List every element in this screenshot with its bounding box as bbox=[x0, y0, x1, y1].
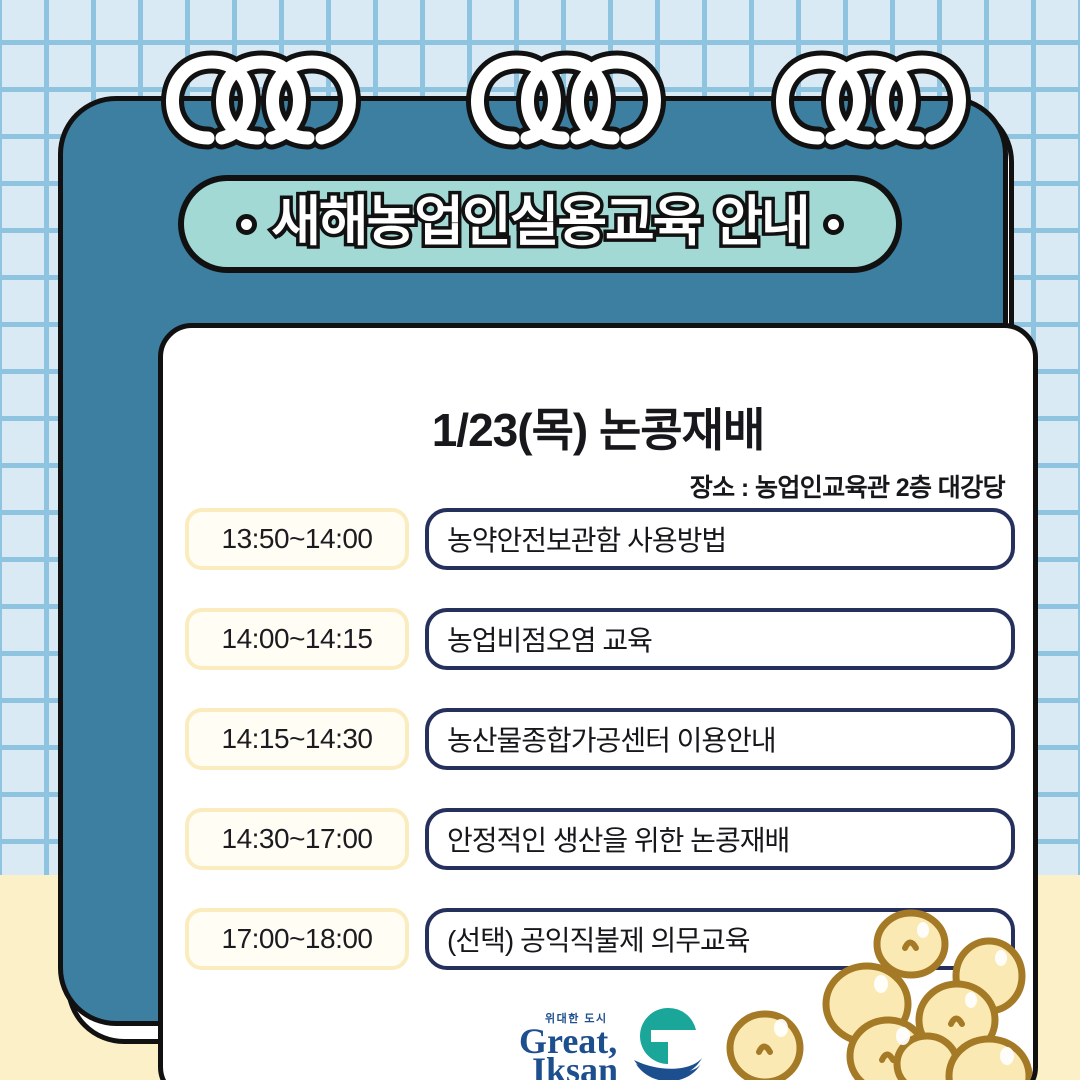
table-row: 13:50~14:00 농약안전보관함 사용방법 bbox=[185, 508, 1015, 570]
time-pill: 14:15~14:30 bbox=[185, 708, 409, 770]
topic-box: (선택) 공익직불제 의무교육 bbox=[425, 908, 1015, 970]
topic-box: 농산물종합가공센터 이용안내 bbox=[425, 708, 1015, 770]
time-pill: 13:50~14:00 bbox=[185, 508, 409, 570]
bullet-dot-right-icon bbox=[823, 214, 844, 235]
table-row: 14:30~17:00 안정적인 생산을 위한 논콩재배 bbox=[185, 808, 1015, 870]
topic-box: 농약안전보관함 사용방법 bbox=[425, 508, 1015, 570]
iksan-emblem-icon bbox=[634, 1008, 702, 1080]
time-pill: 17:00~18:00 bbox=[185, 908, 409, 970]
topic-box: 안정적인 생산을 위한 논콩재배 bbox=[425, 808, 1015, 870]
table-row: 14:00~14:15 농업비점오염 교육 bbox=[185, 608, 1015, 670]
venue-text: 장소 : 농업인교육관 2층 대강당 bbox=[690, 468, 1005, 504]
content-panel: 1/23(목) 논콩재배 장소 : 농업인교육관 2층 대강당 13:50~14… bbox=[158, 323, 1038, 1080]
table-row: 14:15~14:30 농산물종합가공센터 이용안내 bbox=[185, 708, 1015, 770]
poster-title: 새해농업인실용교육 안내 bbox=[271, 195, 808, 249]
topic-box: 농업비점오염 교육 bbox=[425, 608, 1015, 670]
poster-canvas: 1/23(목) 논콩재배 장소 : 농업인교육관 2층 대강당 13:50~14… bbox=[0, 0, 1080, 1080]
schedule-list: 13:50~14:00 농약안전보관함 사용방법 14:00~14:15 농업비… bbox=[185, 508, 1015, 1008]
table-row: 17:00~18:00 (선택) 공익직불제 의무교육 bbox=[185, 908, 1015, 970]
subtitle-heading: 1/23(목) 논콩재배 bbox=[163, 394, 1033, 460]
bullet-dot-left-icon bbox=[236, 214, 257, 235]
title-banner: 새해농업인실용교육 안내 bbox=[178, 175, 902, 273]
time-pill: 14:00~14:15 bbox=[185, 608, 409, 670]
logo-line2: Iksan bbox=[532, 1050, 618, 1080]
iksan-logo: 위대한 도시 Great, Iksan bbox=[518, 1002, 703, 1080]
time-pill: 14:30~17:00 bbox=[185, 808, 409, 870]
